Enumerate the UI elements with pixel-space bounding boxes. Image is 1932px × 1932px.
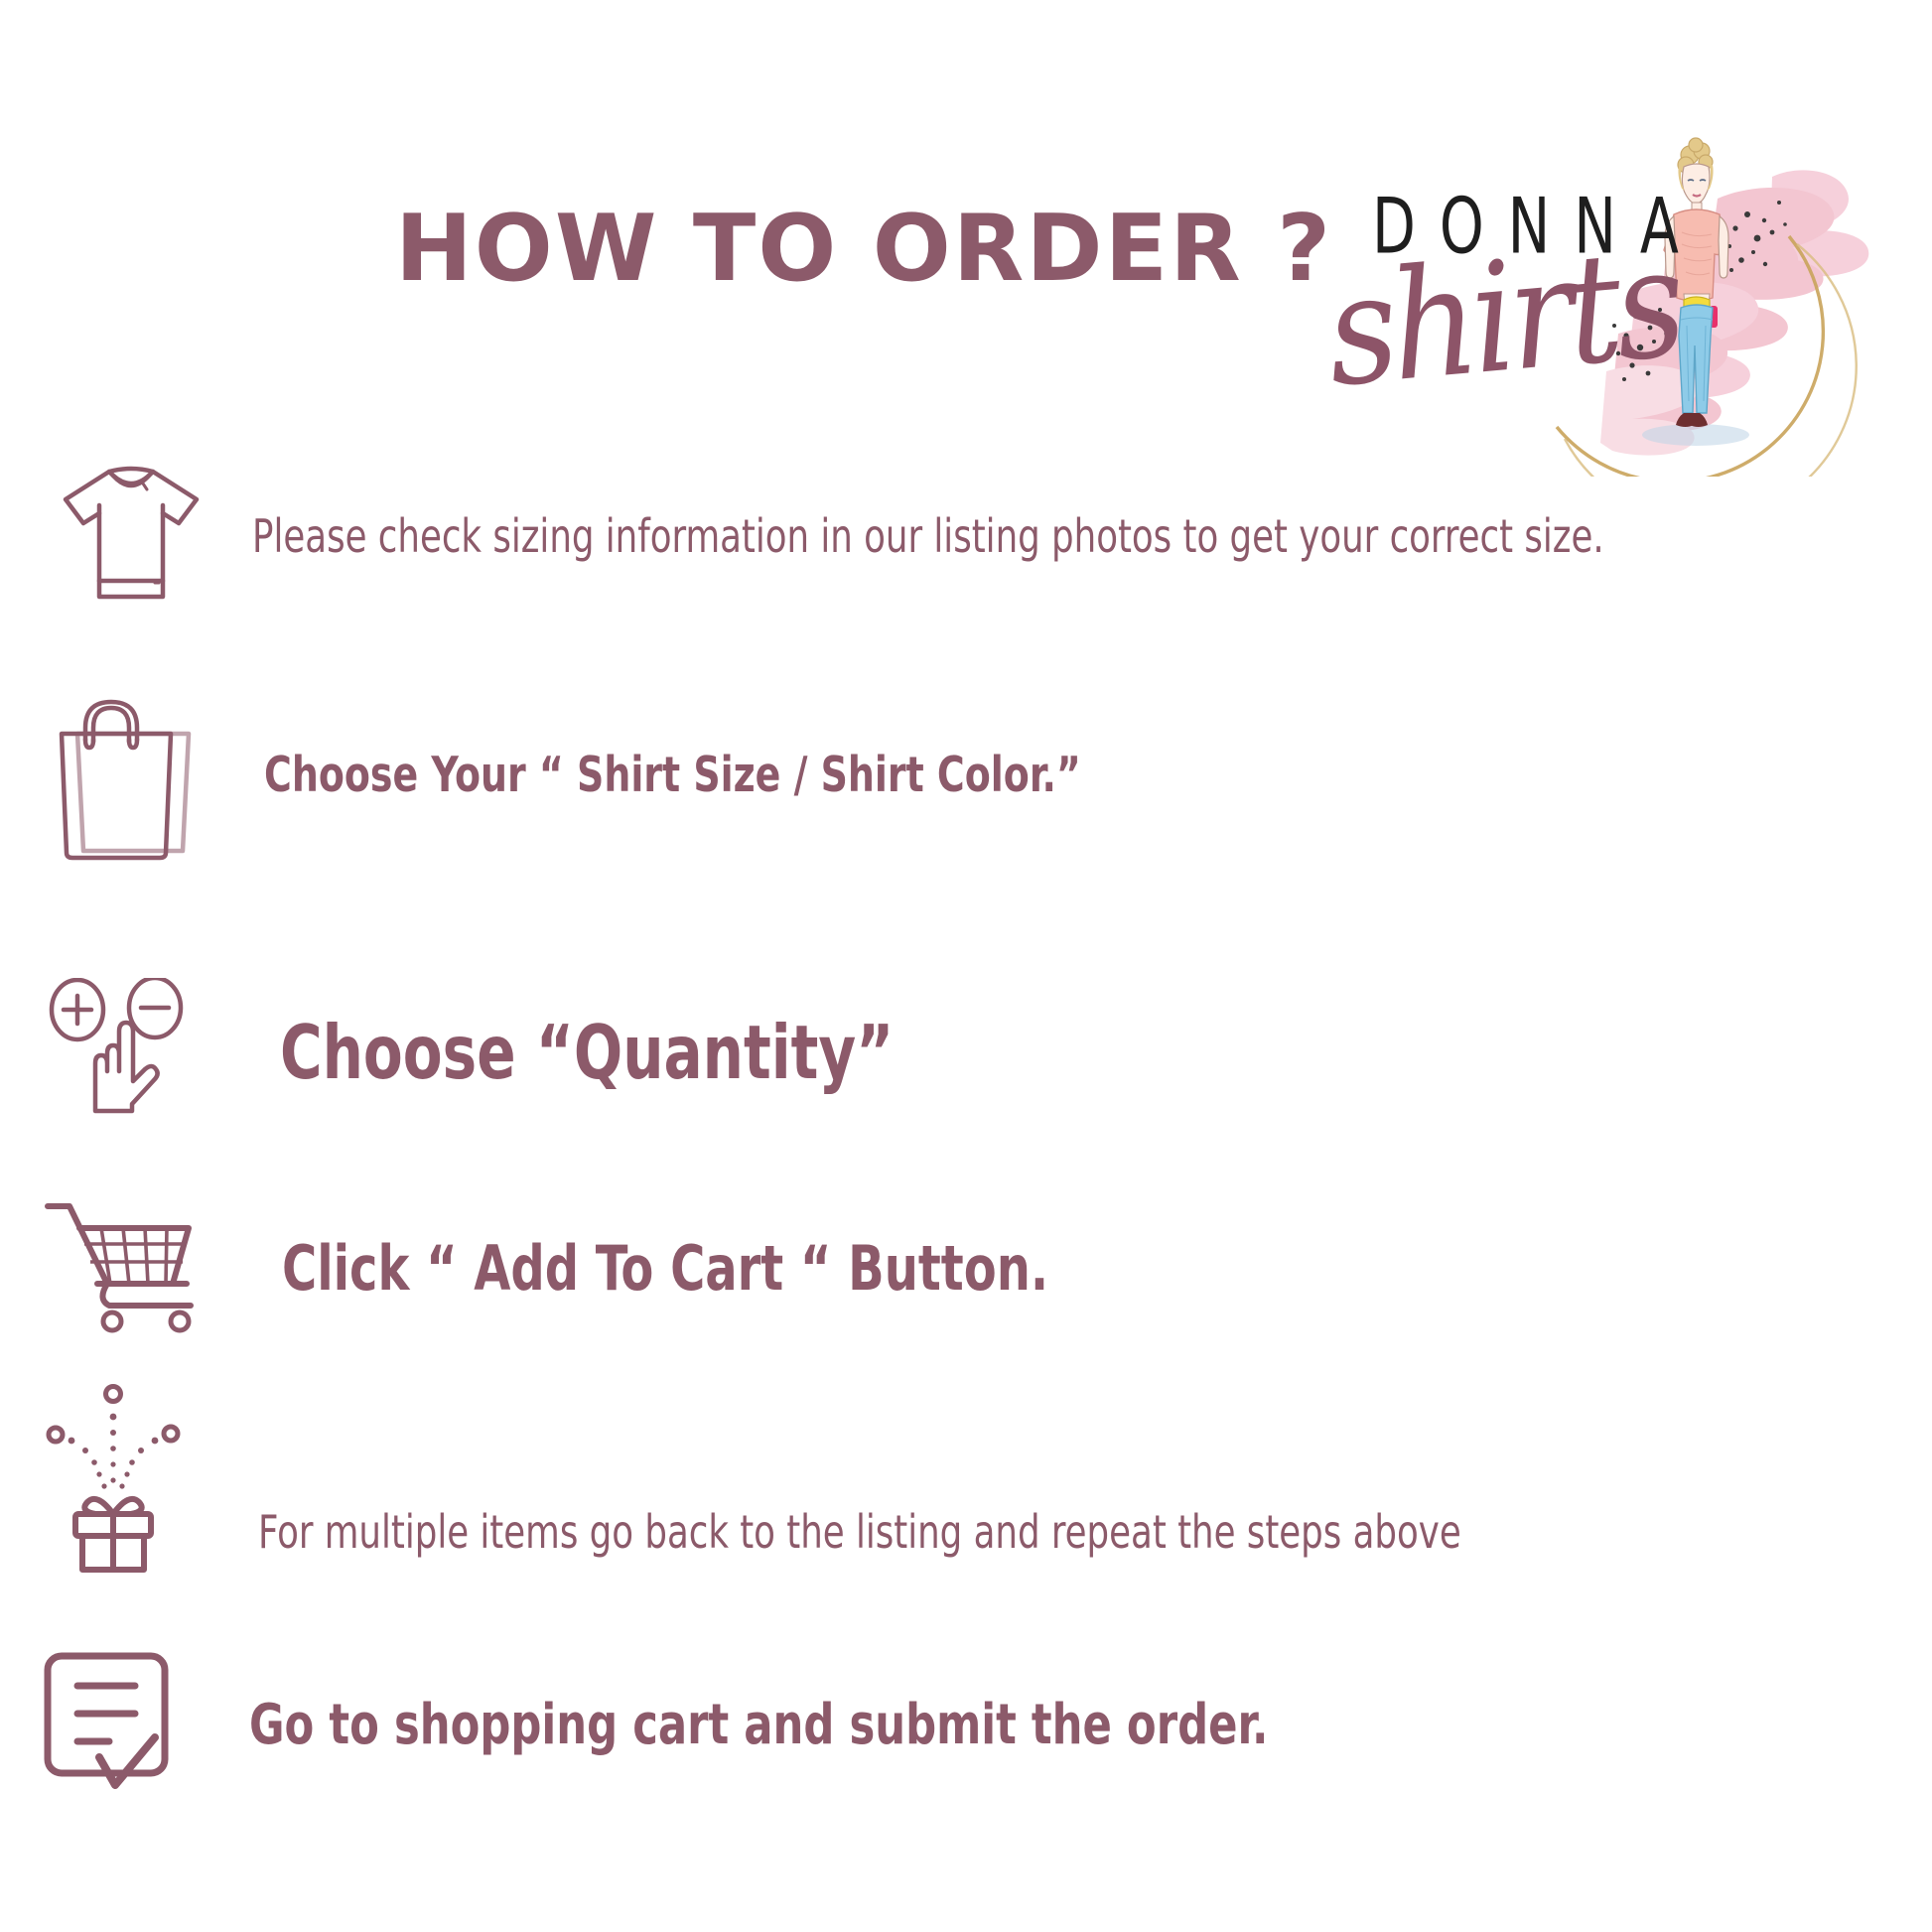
brand-logo: DONNA shirts xyxy=(1320,129,1916,477)
document-check-icon xyxy=(38,1646,202,1805)
step-row-quantity: Choose “Quantity” xyxy=(40,968,994,1137)
gift-box-icon xyxy=(38,1375,207,1574)
step-label-add-to-cart: Click “ Add To Cart “ Button. xyxy=(282,1232,1048,1305)
step-label-submit-order: Go to shopping cart and submit the order… xyxy=(249,1693,1268,1757)
step-row-submit-order: Go to shopping cart and submit the order… xyxy=(38,1638,1435,1812)
step-row-add-to-cart: Click “ Add To Cart “ Button. xyxy=(38,1186,1173,1350)
quantity-stepper-icon xyxy=(40,978,199,1127)
shopping-bag-icon xyxy=(52,688,201,862)
step-row-multiple-items: For multiple items go back to the listin… xyxy=(38,1370,1657,1579)
step-label-sizing: Please check sizing information in our l… xyxy=(252,509,1604,563)
how-to-order-infographic: HOW TO ORDER ? xyxy=(0,0,1932,1932)
step-label-quantity: Choose “Quantity” xyxy=(280,1009,894,1096)
step-row-sizing: Please check sizing information in our l… xyxy=(52,457,1824,616)
step-label-size-color: Choose Your “ Shirt Size / Shirt Color.” xyxy=(264,747,1081,803)
page-title: HOW TO ORDER ? xyxy=(367,195,1360,302)
logo-script: shirts xyxy=(1320,215,1686,421)
shopping-cart-icon xyxy=(38,1194,207,1343)
tshirt-icon xyxy=(52,462,210,611)
step-label-multiple-items: For multiple items go back to the listin… xyxy=(258,1505,1461,1559)
figure-shadow xyxy=(1642,424,1749,446)
step-row-size-color: Choose Your “ Shirt Size / Shirt Color.” xyxy=(52,685,1214,864)
